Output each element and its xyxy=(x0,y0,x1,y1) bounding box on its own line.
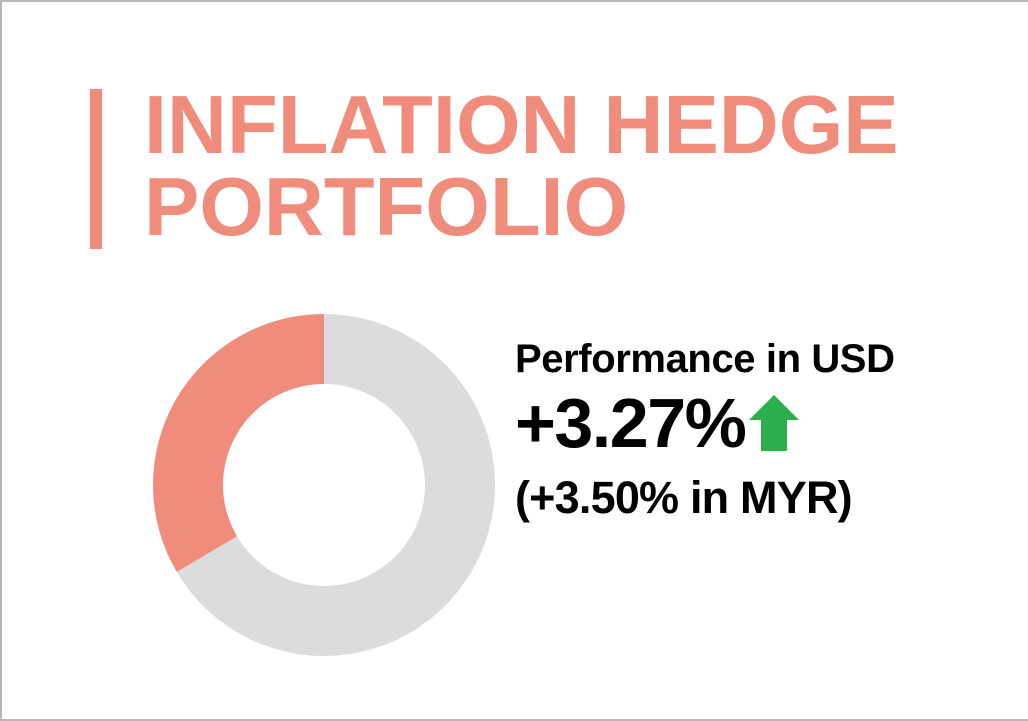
performance-value: +3.27% xyxy=(515,388,745,458)
page-title: INFLATION HEDGE PORTFOLIO xyxy=(144,84,899,248)
performance-panel: Performance in USD +3.27% (+3.50% in MYR… xyxy=(515,338,985,522)
page-title-block: INFLATION HEDGE PORTFOLIO xyxy=(90,84,899,249)
portfolio-performance-card: INFLATION HEDGE PORTFOLIO Performance in… xyxy=(0,0,1028,721)
performance-main-row: +3.27% xyxy=(515,386,985,460)
performance-label: Performance in USD xyxy=(515,338,985,380)
donut-slices xyxy=(153,314,495,656)
donut-slice-allocated[interactable] xyxy=(153,314,324,572)
title-accent-bar xyxy=(90,89,102,249)
performance-secondary-value: (+3.50% in MYR) xyxy=(515,474,985,521)
arrow-up-icon xyxy=(747,393,801,453)
allocation-donut-chart xyxy=(153,314,495,656)
donut-chart-svg xyxy=(153,314,495,656)
